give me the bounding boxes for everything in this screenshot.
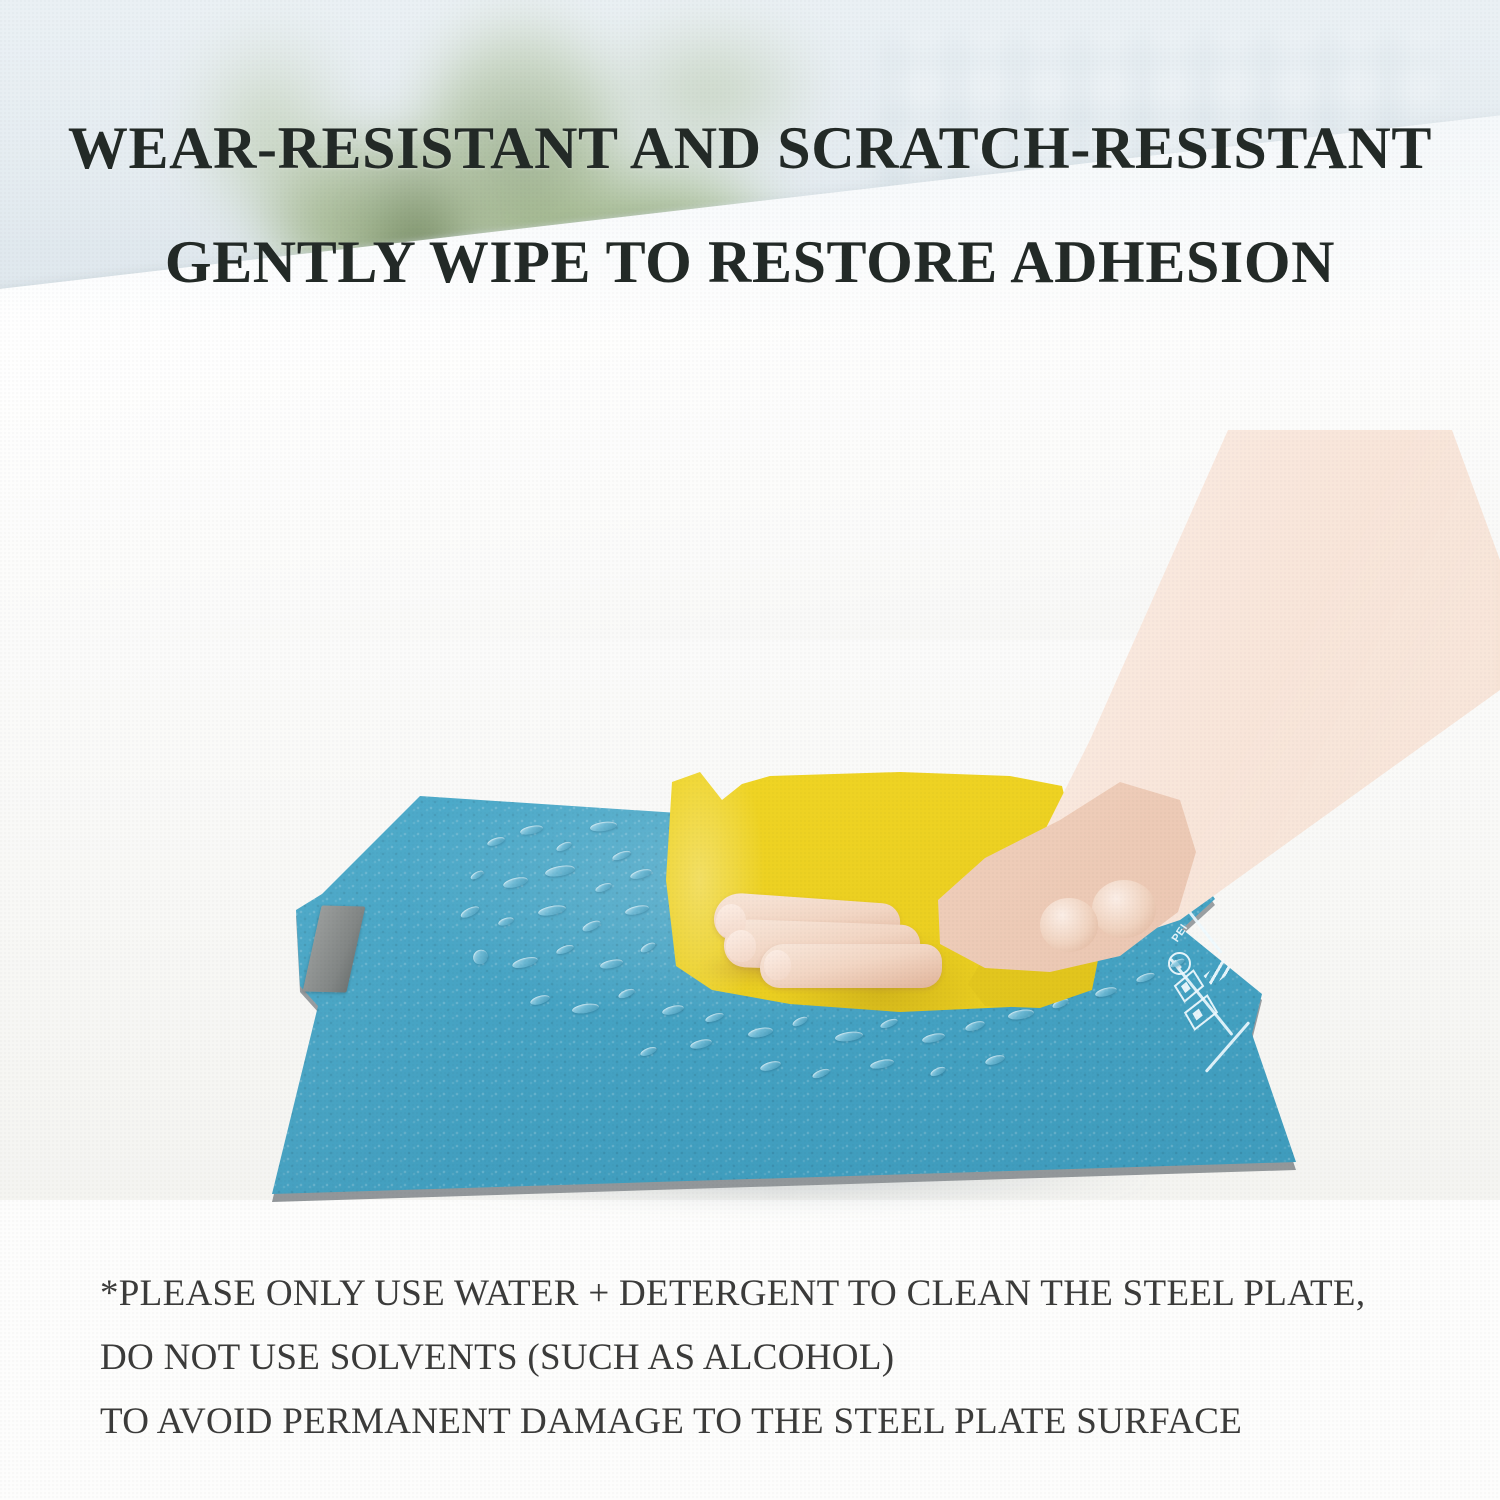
- fingernail: [764, 950, 792, 980]
- knuckle: [1092, 880, 1156, 938]
- knuckle: [1040, 898, 1098, 952]
- footer-note-line-2: DO NOT USE SOLVENTS (SUCH AS ALCOHOL): [100, 1336, 1420, 1379]
- footer-note-line-3: TO AVOID PERMANENT DAMAGE TO THE STEEL P…: [100, 1400, 1420, 1443]
- product-feature-image: WEAR-RESISTANT AND SCRATCH-RESISTANT GEN…: [0, 0, 1500, 1500]
- footer-note-line-1: *PLEASE ONLY USE WATER + DETERGENT TO CL…: [100, 1272, 1420, 1315]
